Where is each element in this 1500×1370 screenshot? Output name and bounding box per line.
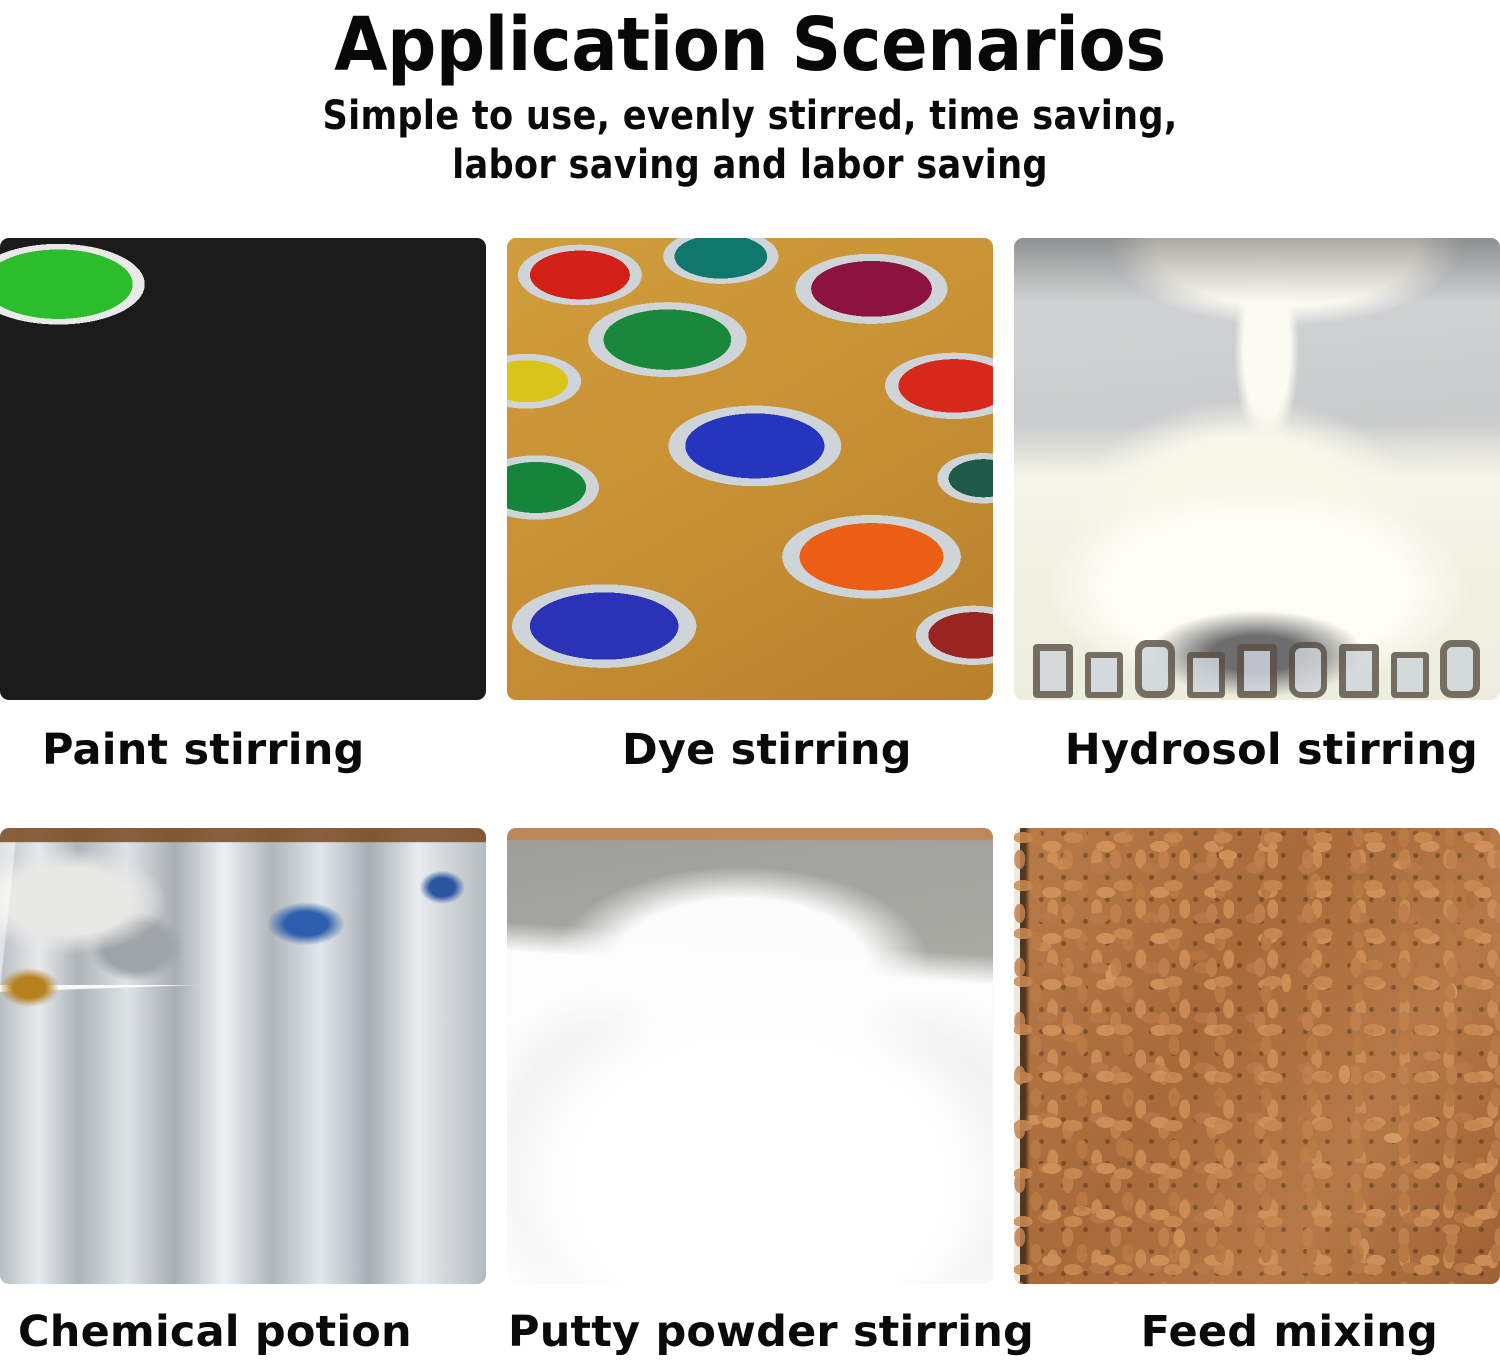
caption-dye-stirring: Dye stirring (500, 724, 1000, 776)
caption-chemical-potion: Chemical potion (0, 1306, 500, 1358)
page-title: Application Scenarios (53, 0, 1448, 88)
paint-cans-photo (0, 238, 486, 700)
scenario-cell-hydrosol-stirring: Hydrosol stirring (1000, 238, 1500, 828)
page-subtitle: Simple to use, evenly stirred, time savi… (90, 88, 1410, 190)
scenario-cell-feed-mixing: Feed mixing (1000, 828, 1500, 1368)
header: Application Scenarios Simple to use, eve… (0, 0, 1500, 190)
scenario-cell-dye-stirring: Dye stirring (500, 238, 1000, 828)
scenario-cell-paint-stirring: Paint stirring (0, 238, 500, 828)
scenario-row-bottom: Chemical potion Putty powder stirring Fe… (0, 828, 1500, 1368)
putty-paste-photo (507, 828, 993, 1284)
caption-putty-powder-stirring: Putty powder stirring (500, 1306, 1000, 1358)
scenario-row-top: Paint stirring Dye stirring Hydrosol sti… (0, 238, 1500, 828)
caption-hydrosol-stirring: Hydrosol stirring (1000, 724, 1500, 776)
subtitle-line-1: Simple to use, evenly stirred, time savi… (90, 92, 1410, 141)
application-scenarios-infographic: Application Scenarios Simple to use, eve… (0, 0, 1500, 1370)
scenario-cell-putty-powder-stirring: Putty powder stirring (500, 828, 1000, 1368)
caption-paint-stirring: Paint stirring (0, 724, 500, 776)
chemical-reactor-photo (0, 828, 486, 1284)
hydrosol-pouring-photo (1014, 238, 1500, 700)
scenario-grid: Paint stirring Dye stirring Hydrosol sti… (0, 238, 1500, 1368)
scenario-cell-chemical-potion: Chemical potion (0, 828, 500, 1368)
dye-powder-photo (507, 238, 993, 700)
caption-feed-mixing: Feed mixing (1000, 1306, 1500, 1358)
subtitle-line-2: labor saving and labor saving (90, 141, 1410, 190)
container-lettering (1033, 642, 1480, 698)
feed-pellets-photo (1014, 828, 1500, 1284)
